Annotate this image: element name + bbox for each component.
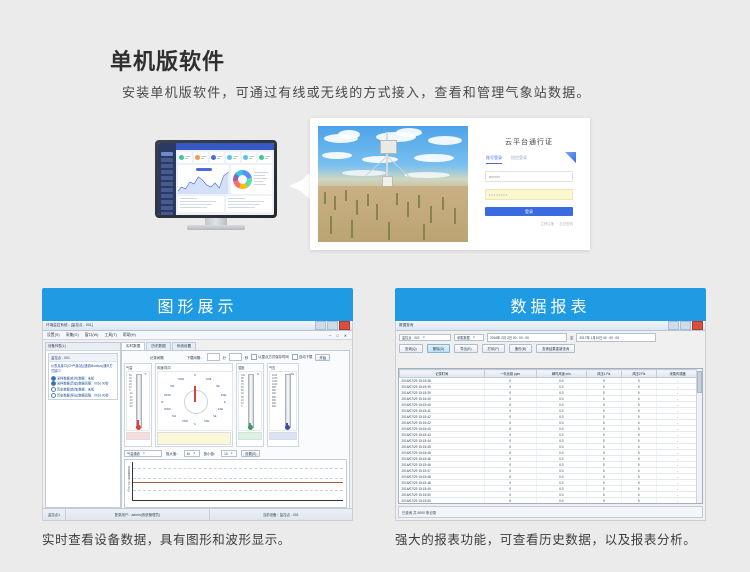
interval-minute-input[interactable] [207,353,220,361]
weather-station-photo [318,126,468,242]
dashboard-list-panel [178,196,224,212]
max-value-select[interactable]: 40 [184,450,200,457]
wind-rose: N NNE NE ENE E ESE SE SSE S SSW SW WSW [157,371,233,431]
dashboard-stat-cards [176,150,274,165]
card-reports-screenshot: 数据查询 监控点 - 001 采集数据 2016年 2月 2日 00 : 00 … [395,321,706,521]
option-label: 采样数据(实时)数据：未知 [57,376,94,380]
data-table: 记录时间一氧化碳 ppm瞬时风速 m/s风压1 Pa风压2 Pa采集传感器 20… [399,369,702,504]
report-window-buttons[interactable] [668,321,705,330]
username-field[interactable]: admin [485,171,573,182]
minimize-icon[interactable] [315,321,326,330]
menu-item-help[interactable]: 帮助(H) [123,333,136,338]
backup-button[interactable]: 备份(B) [509,344,532,353]
login-tab-sms[interactable]: 短信登录 [511,155,527,164]
table-cell: 0 [621,504,656,505]
mdi-window-controls[interactable]: ─ □ ✕ [329,333,352,338]
table-column-header[interactable]: 采集传感器 [656,370,699,378]
window-titlebar: 环境监控系统 - [监控点 - 001] [43,321,352,331]
table-cell: 2016/07/29 15:15:51 [400,504,485,505]
menu-bar[interactable]: 设置(S) 采集(G) 窗口(W) 工具(T) 帮助(H) ─ □ ✕ [43,331,352,340]
page-subtitle: 安装单机版软件，可通过有线或无线的方式接入，查看和管理气象站数据。 [122,82,591,101]
gauge-readout-temperature [126,432,150,440]
gauge-label: 气温 [126,365,150,370]
radio-icon[interactable] [51,393,56,398]
report-window-title: 数据查询 [399,323,413,328]
date-range-separator: 至 [570,335,573,340]
page-title: 单机版软件 [110,44,225,76]
card-graphics: 图形展示 环境监控系统 - [监控点 - 001] 设置(S) 采集(G) 窗口… [42,288,353,550]
table-column-header[interactable]: 瞬时风速 m/s [536,370,586,378]
status-cell-user: 登录用户：admin(系统管理员) [66,509,209,520]
menu-item-collect[interactable]: 采集(G) [66,333,79,338]
table-cell: - [656,504,699,505]
gauge-pressure: 气压 1100107010401010980950920890860830800… [267,363,299,447]
minute-unit: 分 [223,355,226,360]
login-panel: 云平台通行证 账号登录 短信登录 admin •••••••• 登录 立即注册 … [476,124,582,244]
report-data-grid[interactable]: 记录时间一氧化碳 ppm瞬时风速 m/s风压1 Pa风压2 Pa采集传感器 20… [398,368,703,504]
gauge-row: 气温 50403020100-10-20-30-40-50 ℃ 风速/风向 [124,363,347,447]
report-window-titlebar: 数据查询 [396,321,705,331]
card-graphics-caption: 实时查看设备数据，具有图形和波形显示。 [42,531,353,550]
hero-section: 云平台通行证 账号登录 短信登录 admin •••••••• 登录 立即注册 … [0,110,750,260]
table-body: 2016/07/29 15:15:3800.000-2016/07/29 15:… [400,378,702,505]
max-label: 极大值： [166,451,180,456]
data-tabs[interactable]: 实时数据 历史数据 系统设置 [121,342,350,350]
print-button[interactable]: 打印(P) [482,344,505,353]
close-icon[interactable] [692,321,703,330]
sensor-box-upper [380,140,397,154]
table-column-header[interactable]: 风压2 Pa [621,370,656,378]
dashboard-donut-chart [231,165,272,194]
delete-button[interactable]: 删除(D) [427,344,451,353]
option-label: 历史数据(导出)数据间隔：00分 00秒 [57,393,109,397]
window-title: 环境监控系统 - [监控点 - 001] [46,323,93,328]
software-preview-card: 云平台通行证 账号登录 短信登录 admin •••••••• 登录 立即注册 … [310,118,590,250]
donut-icon [233,170,252,189]
login-footer-links[interactable]: 立即注册 ｜ 忘记密码 [485,221,573,226]
waveform-chart: 温度值曲线 -50~50℃ [124,459,347,508]
grid-scrollbar[interactable] [696,369,702,503]
gauge-readout-wind [157,432,231,445]
query-button[interactable]: 查询(Q) [399,344,423,353]
option-label: 采样数据(历史)数据间隔：00分 00秒 [57,382,109,386]
table-row[interactable]: 2016/07/29 15:15:5100.000- [400,504,702,505]
login-tabs: 账号登录 短信登录 [486,155,582,164]
waveform-trace [133,482,343,483]
thermometer-humidity: 1009080706050403020100 % [238,371,262,431]
tab-panel-realtime: 记录间隔 下载间隔： 分 秒 以整点方式保存时间 自动下载 开始 气温 50 [121,350,350,511]
card-graphics-heading: 图形展示 [42,288,353,321]
maximize-icon[interactable] [327,321,338,330]
login-tab-account[interactable]: 账号登录 [486,155,502,164]
checkbox-label: 以整点方式保存时间 [258,355,289,359]
monitor-bezel [155,140,277,218]
gauge-label: 气压 [269,365,297,370]
login-submit-button[interactable]: 登录 [485,207,573,216]
dashboard-body [176,143,274,215]
report-status-bar: 已查询 共 5000 条记录 [398,506,703,518]
monitor-work-area: 实时数据 历史数据 系统设置 记录间隔 下载间隔： 分 秒 以整点方式保存时间 … [121,342,350,508]
requery-button[interactable]: 查询结果重新查询 [536,344,575,353]
dashboard-area-chart [178,165,229,194]
waveform-settings-button[interactable]: 设置(S) [241,450,260,457]
second-unit: 秒 [245,355,248,360]
checkbox-icon[interactable] [292,354,298,360]
export-button[interactable]: 导出(E) [454,344,477,353]
gauge-ticks: 1009080706050403020100 [241,374,245,408]
checkbox-align-hour[interactable]: 以整点方式保存时间 [251,354,289,360]
option-label: 历史数据(查询)数据：未知 [57,388,94,392]
min-value-select[interactable]: 10 [221,450,237,457]
card-reports: 数据报表 数据查询 监控点 - 001 采集数据 2016年 2月 2日 00 … [395,288,706,550]
waveform-y-label: 温度值曲线 -50~50℃ [126,466,130,493]
device-list-header: 设备列表(L) [46,343,120,351]
gauge-unit: % [257,373,259,376]
menu-item-settings[interactable]: 设置(S) [47,333,60,338]
device-list-panel: 设备列表(L) 监控点 - 001 仪表及接口(CH气象站)(通道Modbus)… [45,342,121,508]
radio-icon[interactable] [51,376,56,381]
gauge-wind: 风速/风向 N NNE NE ENE E ESE SE SSE [155,363,233,447]
maximize-icon[interactable] [680,321,691,330]
date-to-input[interactable]: 2017年 1月10日 00 : 00 : 00 [576,333,656,342]
scrollbar-thumb[interactable] [697,371,702,393]
table-cell: 0.0 [536,504,586,505]
monitor-stand-base [187,225,245,230]
gauge-label: 湿度 [238,365,262,370]
table-column-header[interactable]: 记录时间 [400,370,485,378]
desktop-monitor [155,140,277,226]
thermometer-pressure: 1100107010401010980950920890860830800 hP… [269,371,297,431]
gauge-ticks: 1100107010401010980950920890860830800 [272,374,277,408]
dashboard-topbar [176,143,274,150]
table-header-row: 记录时间一氧化碳 ppm瞬时风速 m/s风压1 Pa风压2 Pa采集传感器 [400,370,702,378]
window-buttons[interactable] [315,321,352,330]
waveform-channel-select[interactable]: 气温通道 [124,450,162,457]
table-column-header[interactable]: 一氧化碳 ppm [484,370,536,378]
tab-realtime[interactable]: 实时数据 [121,342,145,350]
monitor-screen [158,143,274,215]
status-bar: 监控点1 登录用户：admin(系统管理员) 当前设备：监控点 - 001 [43,508,352,520]
download-interval-label: 下载间隔： [187,355,204,360]
gauge-humidity: 湿度 1009080706050403020100 % [236,363,264,447]
status-cell-device: 当前设备：监控点 - 001 [210,509,352,520]
menu-item-window[interactable]: 窗口(W) [85,333,99,338]
start-button[interactable]: 开始 [315,354,330,361]
card-reports-heading: 数据报表 [395,288,706,321]
option-row-3[interactable]: 历史数据(导出)数据间隔：00分 00秒 [49,393,117,399]
radio-icon[interactable] [51,387,56,392]
radio-icon[interactable] [51,381,56,386]
waveform-controls: 气温通道 极大值： 40 极小值： 10 设置(S) [124,450,347,457]
interval-controls: 记录间隔 下载间隔： 分 秒 以整点方式保存时间 自动下载 开始 [124,353,347,361]
device-select[interactable]: 监控点 - 001 [399,334,451,341]
checkbox-label: 自动下载 [299,355,313,359]
gauge-unit: ℃ [144,373,147,376]
tab-history[interactable]: 历史数据 [146,342,170,350]
gauge-readout-pressure [269,432,297,440]
minimize-icon[interactable] [668,321,679,330]
dashboard-table-panel [226,196,272,212]
report-toolbar: 监控点 - 001 采集数据 2016年 2月 2日 00 : 00 : 00 … [396,331,705,344]
report-button-row: 查询(Q) 删除(D) 导出(E) 打印(P) 备份(B) 查询结果重新查询 [396,344,705,355]
login-title: 云平台通行证 [476,137,582,147]
thermometer-temperature: 50403020100-10-20-30-40-50 ℃ [126,371,150,431]
card-reports-caption: 强大的报表功能，可查看历史数据，以及报表分析。 [395,531,706,550]
gauge-label: 风速/风向 [157,365,231,370]
dashboard-sidebar [158,143,176,215]
checkbox-icon[interactable] [251,354,257,360]
status-cell-point: 监控点1 [43,509,66,520]
password-field[interactable]: •••••••• [485,189,573,200]
device-description: 仪表及接口(CH气象站)(通道Modbus)通讯方式接口 [49,362,117,376]
table-cell-filler [699,504,702,505]
device-tree[interactable]: 监控点 - 001 仪表及接口(CH气象站)(通道Modbus)通讯方式接口 采… [48,353,118,400]
close-icon[interactable] [339,321,350,330]
tab-settings[interactable]: 系统设置 [172,342,196,350]
gauge-readout-humidity [238,432,262,440]
type-select[interactable]: 采集数据 [454,334,484,341]
table-cell: 0 [586,504,621,505]
card-graphics-screenshot: 环境监控系统 - [监控点 - 001] 设置(S) 采集(G) 窗口(W) 工… [42,321,353,521]
table-cell: 0 [484,504,536,505]
tree-node-station[interactable]: 监控点 - 001 [49,354,117,362]
min-label: 极小值： [204,451,218,456]
menu-item-tools[interactable]: 工具(T) [104,333,116,338]
checkbox-auto-download[interactable]: 自动下载 [292,354,313,360]
table-column-header[interactable]: 风压1 Pa [586,370,621,378]
interval-second-input[interactable] [229,353,242,361]
gauge-temperature: 气温 50403020100-10-20-30-40-50 ℃ [124,363,152,447]
gauge-ticks: 50403020100-10-20-30-40-50 [129,374,132,408]
field-ground [318,186,468,242]
date-from-input[interactable]: 2016年 2月 2日 00 : 00 : 00 [487,333,567,342]
record-interval-label: 记录间隔 [150,355,164,360]
